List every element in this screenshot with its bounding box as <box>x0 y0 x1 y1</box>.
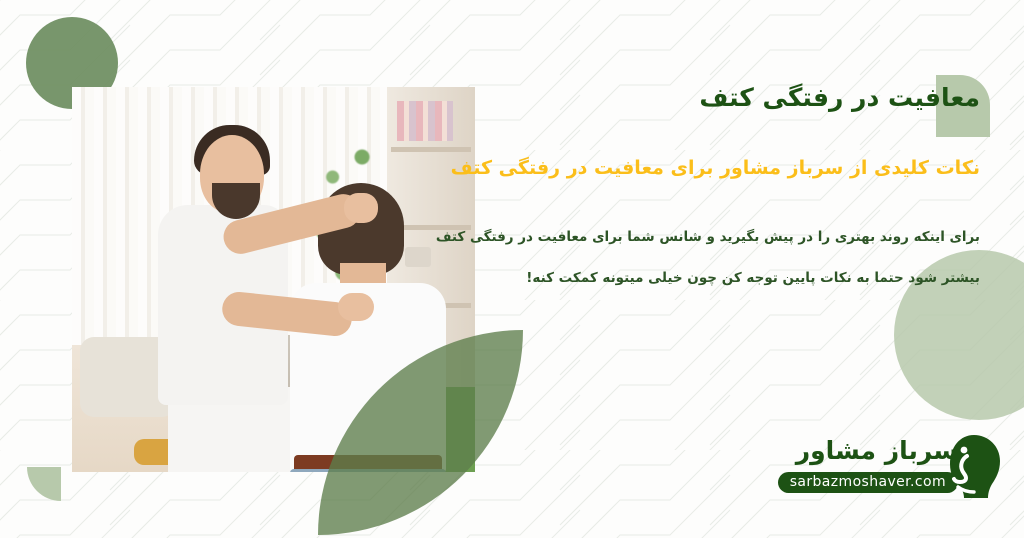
head-silhouette-icon <box>944 434 1002 498</box>
plant-pot <box>405 247 431 267</box>
patient-jeans <box>290 469 446 472</box>
brand-domain: sarbazmoshaver.com <box>778 472 958 493</box>
hero-photo <box>72 87 475 472</box>
body-text-line-2: بیشتر شود حتما به نکات پایین توجه کن چون… <box>526 266 980 292</box>
banner-root: معافیت در رفتگی کتف نکات کلیدی از سرباز … <box>0 0 1024 538</box>
therapist-upper-hand <box>344 193 378 223</box>
books <box>397 101 453 141</box>
therapist-lower-hand <box>338 293 374 321</box>
shelf-bar <box>391 147 471 152</box>
brand-logo[interactable]: سرباز مشاور sarbazmoshaver.com <box>792 434 1002 506</box>
quarter-circle-decoration <box>27 467 61 501</box>
page-subtitle: نکات کلیدی از سرباز مشاور برای معافیت در… <box>451 155 980 182</box>
body-text-line-1: برای اینکه روند بهتری را در پیش بگیرید و… <box>436 225 980 251</box>
brand-name: سرباز مشاور <box>796 436 958 465</box>
photo-scene <box>72 87 475 472</box>
page-title: معافیت در رفتگی کتف <box>699 82 980 115</box>
